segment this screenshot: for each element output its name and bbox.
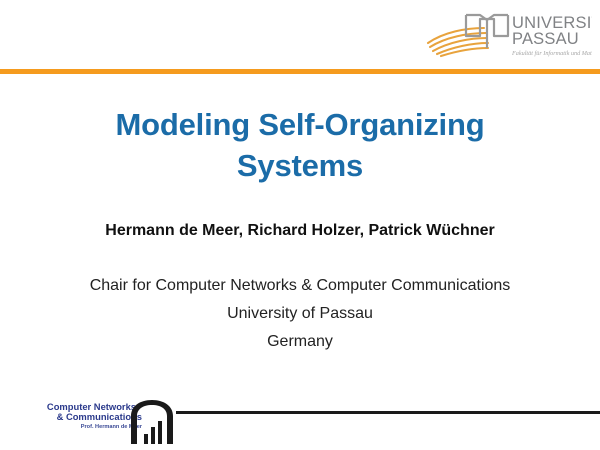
footer-logo-line2: & Communications	[57, 411, 142, 422]
logo-subtitle: Fakultät für Informatik und Mathematik	[511, 50, 592, 57]
affiliation-line-3: Germany	[30, 328, 570, 356]
logo-wordmark-line2: PASSAU	[512, 30, 579, 48]
affiliation-line-1: Chair for Computer Networks & Computer C…	[30, 272, 570, 300]
university-passau-logo: UNIVERSITÄT PASSAU Fakultät für Informat…	[424, 6, 592, 60]
title-line-1: Modeling Self-Organizing	[40, 104, 560, 145]
affiliation-line-2: University of Passau	[30, 300, 570, 328]
authors-line: Hermann de Meer, Richard Holzer, Patrick…	[30, 220, 570, 242]
footer-divider	[176, 411, 600, 414]
presentation-slide: UNIVERSITÄT PASSAU Fakultät für Informat…	[0, 0, 600, 450]
affiliation-block: Chair for Computer Networks & Computer C…	[30, 272, 570, 356]
header-accent-bar	[0, 69, 600, 74]
page-title: Modeling Self-Organizing Systems	[40, 104, 560, 186]
title-line-2: Systems	[40, 145, 560, 186]
computer-networks-communications-logo: Computer Networks & Communications Prof.…	[18, 396, 198, 446]
